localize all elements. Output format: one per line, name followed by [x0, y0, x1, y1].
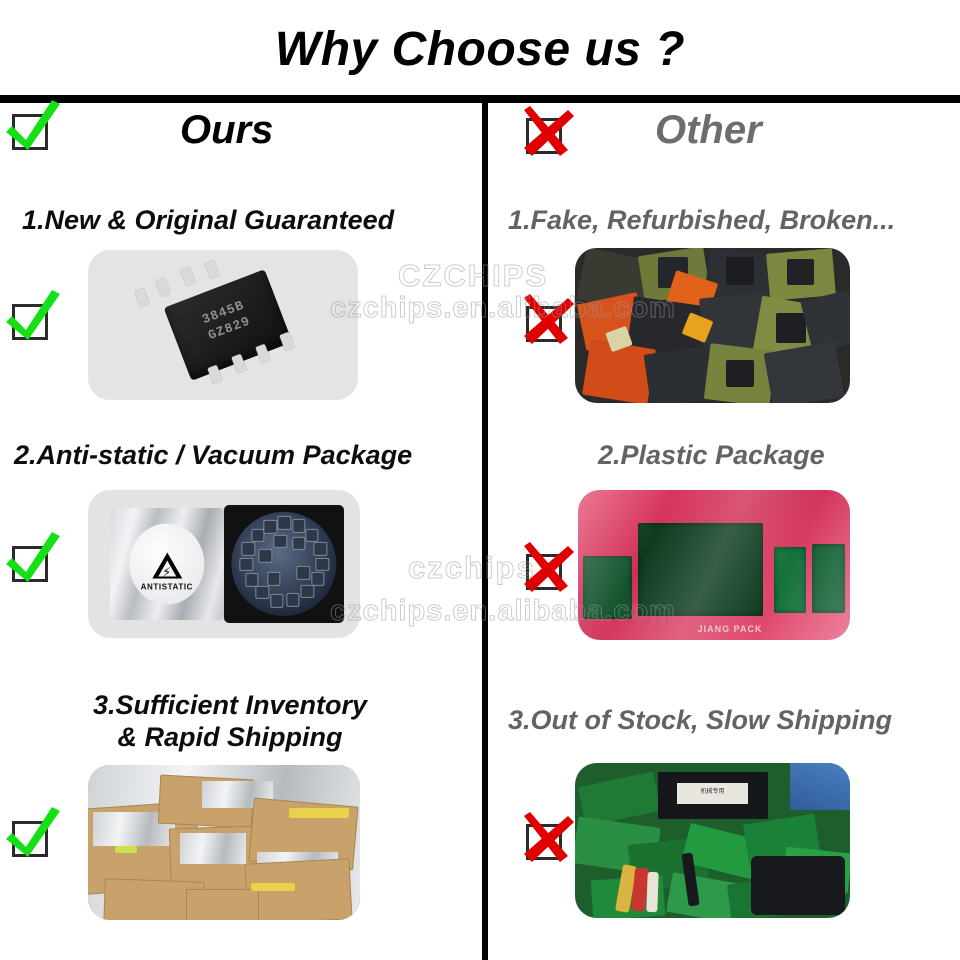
row1-left-photo-ic-chip: 3845B GZ829 — [88, 250, 358, 400]
plastic-film-sheen — [578, 490, 850, 640]
column-divider-vertical — [482, 103, 488, 960]
row3-cross-mark — [520, 818, 566, 864]
reel-tray — [224, 505, 344, 623]
antistatic-label: ANTISTATIC — [129, 583, 204, 592]
cross-mark-icon — [516, 102, 576, 162]
cross-mark-icon — [516, 290, 576, 350]
row2-left-photo-antistatic-package: ⚡ ANTISTATIC — [88, 490, 360, 638]
cross-mark-icon — [516, 538, 576, 598]
chip-body: 3845B GZ829 — [164, 269, 293, 381]
blue-background — [790, 763, 851, 810]
header-divider-horizontal — [0, 95, 960, 103]
column-header-other: Other — [655, 108, 762, 153]
check-mark-icon — [2, 530, 62, 590]
lightning-bolt-icon: ⚡ — [162, 566, 171, 579]
watermark-brand-upper: CZCHIPS — [398, 258, 548, 294]
row3-left-text-line1: 3.Sufficient Inventory — [93, 690, 367, 720]
check-mark-icon — [2, 98, 62, 158]
row3-right-photo-ewaste-pile: 机械专用 — [575, 763, 850, 918]
row3-left-text: 3.Sufficient Inventory & Rapid Shipping — [40, 690, 420, 754]
black-pad — [751, 856, 845, 915]
why-choose-us-infographic: Why Choose us ? Ours Other 1.New & Origi… — [0, 0, 960, 960]
row1-cross-mark — [520, 300, 566, 346]
row3-right-text: 3.Out of Stock, Slow Shipping — [508, 705, 892, 737]
row1-right-text: 1.Fake, Refurbished, Broken... — [508, 205, 895, 237]
row3-left-text-line2: & Rapid Shipping — [118, 722, 343, 752]
black-module: 机械专用 — [658, 772, 768, 819]
check-mark-header — [6, 108, 52, 154]
row2-check-mark — [6, 540, 52, 586]
row1-left-text: 1.New & Original Guaranteed — [22, 205, 394, 237]
column-header-ours: Ours — [180, 108, 273, 153]
pack-brand-label: JIANG PACK — [698, 624, 763, 634]
page-title: Why Choose us ? — [0, 22, 960, 77]
row3-check-mark — [6, 815, 52, 861]
row2-right-text: 2.Plastic Package — [598, 440, 825, 472]
cross-mark-icon — [516, 808, 576, 868]
scrap-pile — [575, 248, 850, 403]
bag-disc: ⚡ ANTISTATIC — [129, 524, 204, 605]
row2-left-text: 2.Anti-static / Vacuum Package — [14, 440, 412, 472]
row1-right-photo-scrap-chips — [575, 248, 850, 403]
row1-check-mark — [6, 298, 52, 344]
check-mark-icon — [2, 805, 62, 865]
check-mark-icon — [2, 288, 62, 348]
row2-cross-mark — [520, 548, 566, 594]
row2-right-photo-plastic-package: JIANG PACK — [578, 490, 850, 640]
row3-left-photo-inventory-boxes — [88, 765, 360, 920]
antistatic-bag: ⚡ ANTISTATIC — [110, 508, 224, 620]
cross-mark-header — [520, 112, 566, 158]
module-label: 机械专用 — [677, 783, 747, 804]
reel-disc — [231, 512, 336, 616]
